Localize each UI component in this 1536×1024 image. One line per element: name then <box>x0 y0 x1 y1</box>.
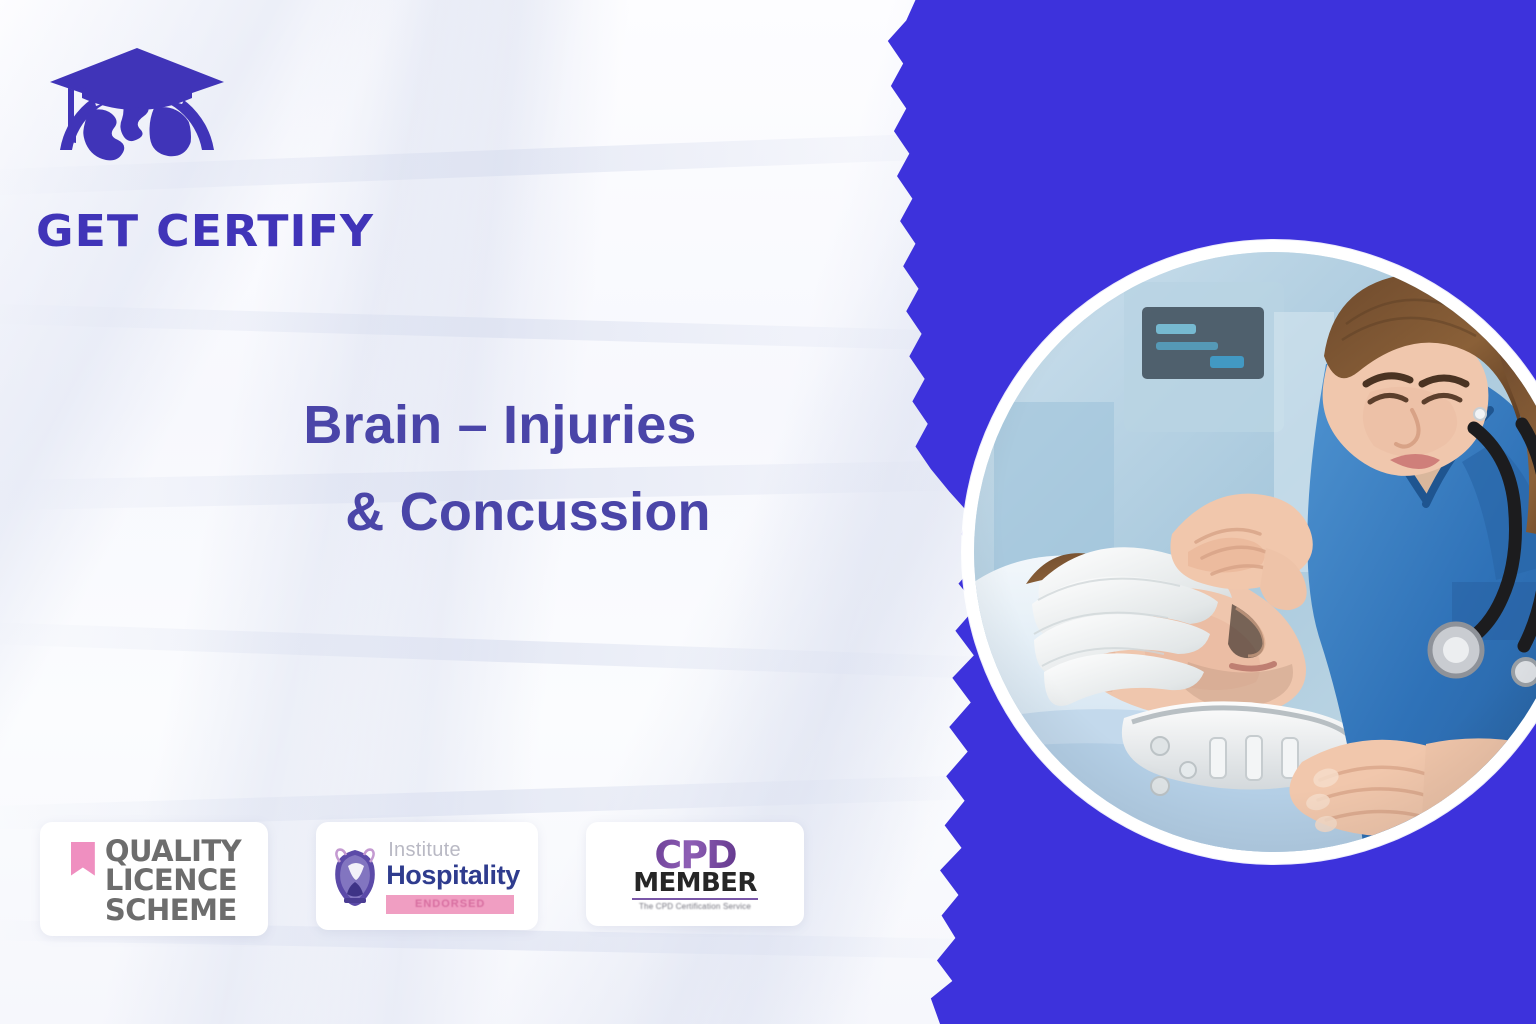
ioh-line-1: Institute <box>386 840 520 861</box>
badge-institute-of-hospitality[interactable]: Institute Hospitality ENDORSED <box>316 822 538 930</box>
heraldic-crest-icon <box>330 846 380 908</box>
accreditation-badges: QUALITY LICENCE SCHEME Institute <box>40 822 804 936</box>
brand-logo-text: GET CERTIFY <box>36 210 374 254</box>
ioh-endorsed-banner: ENDORSED <box>386 895 514 914</box>
slide-root: GET CERTIFY Brain – Injuries & Concussio… <box>0 0 1536 1024</box>
graduation-cap-globe-icon <box>42 42 232 177</box>
cpd-word: CPD <box>632 839 758 872</box>
qls-line-1: QUALITY <box>105 837 241 867</box>
title-line-1: Brain – Injuries <box>180 382 820 469</box>
qls-line-3: SCHEME <box>105 896 241 926</box>
cpd-subtitle: The CPD Certification Service <box>632 902 758 911</box>
cpd-member-word: MEMBER <box>632 870 758 897</box>
ioh-banner-text: ENDORSED <box>415 898 485 910</box>
cpd-divider <box>632 898 758 900</box>
pink-bookmark-ribbon-icon <box>71 842 95 876</box>
qls-line-2: LICENCE <box>105 866 241 896</box>
ioh-line-2: Hospitality <box>386 861 520 889</box>
badge-cpd-member[interactable]: CPD MEMBER The CPD Certification Service <box>586 822 804 926</box>
brand-logo[interactable]: GET CERTIFY <box>26 42 256 232</box>
badge-quality-licence-scheme[interactable]: QUALITY LICENCE SCHEME <box>40 822 268 936</box>
title-line-2: & Concussion <box>236 469 820 556</box>
page-title: Brain – Injuries & Concussion <box>180 382 820 557</box>
